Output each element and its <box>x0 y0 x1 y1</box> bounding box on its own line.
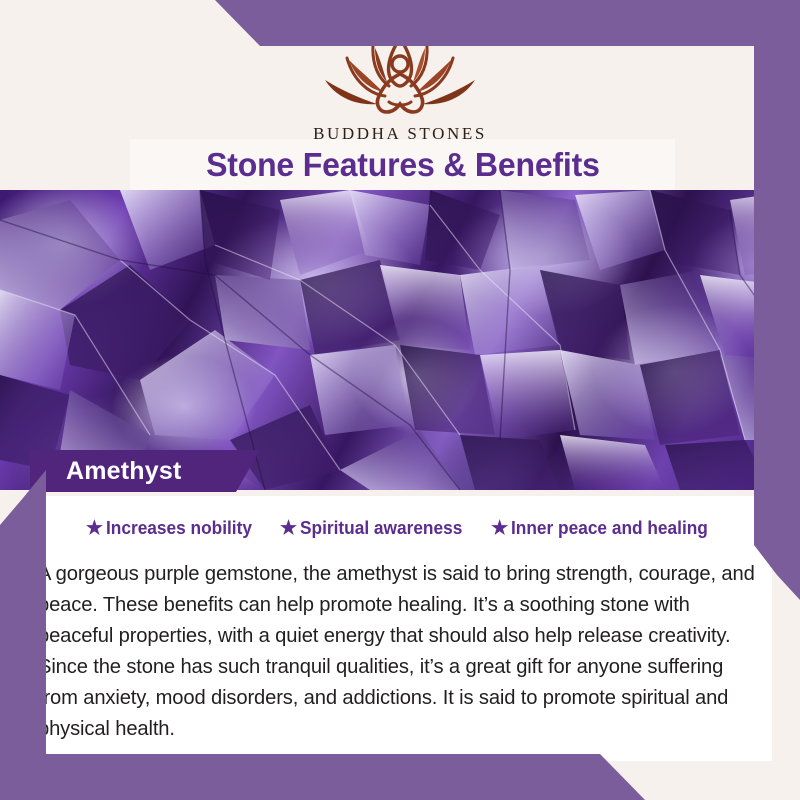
description-inner: ★ Increases nobility ★ Spiritual awarene… <box>30 496 772 761</box>
benefit-item: ★ Inner peace and healing <box>491 518 716 539</box>
stone-name: Amethyst <box>66 457 182 486</box>
frame-border-right <box>754 0 800 600</box>
benefits-list: ★ Increases nobility ★ Spiritual awarene… <box>30 518 772 539</box>
benefit-item: ★ Increases nobility <box>86 518 258 539</box>
star-icon: ★ <box>86 519 103 538</box>
title-banner: Stone Features & Benefits <box>130 139 675 190</box>
star-icon: ★ <box>491 519 508 538</box>
benefit-item: ★ Spiritual awareness <box>280 518 469 539</box>
benefit-label: Spiritual awareness <box>300 518 462 539</box>
page-title: Stone Features & Benefits <box>206 146 600 184</box>
stone-description: A gorgeous purple gemstone, the amethyst… <box>38 558 757 744</box>
benefit-label: Increases nobility <box>106 518 252 539</box>
description-panel: ★ Increases nobility ★ Spiritual awarene… <box>0 490 800 800</box>
benefit-label: Inner peace and healing <box>511 518 708 539</box>
star-icon: ★ <box>280 519 297 538</box>
crystal-facets <box>0 190 800 490</box>
stone-name-ribbon: Amethyst <box>30 450 260 492</box>
product-infographic: BUDDHA STONES Stone Features & Benefits <box>0 0 800 800</box>
frame-border-left <box>0 470 46 800</box>
amethyst-photo <box>0 190 800 490</box>
